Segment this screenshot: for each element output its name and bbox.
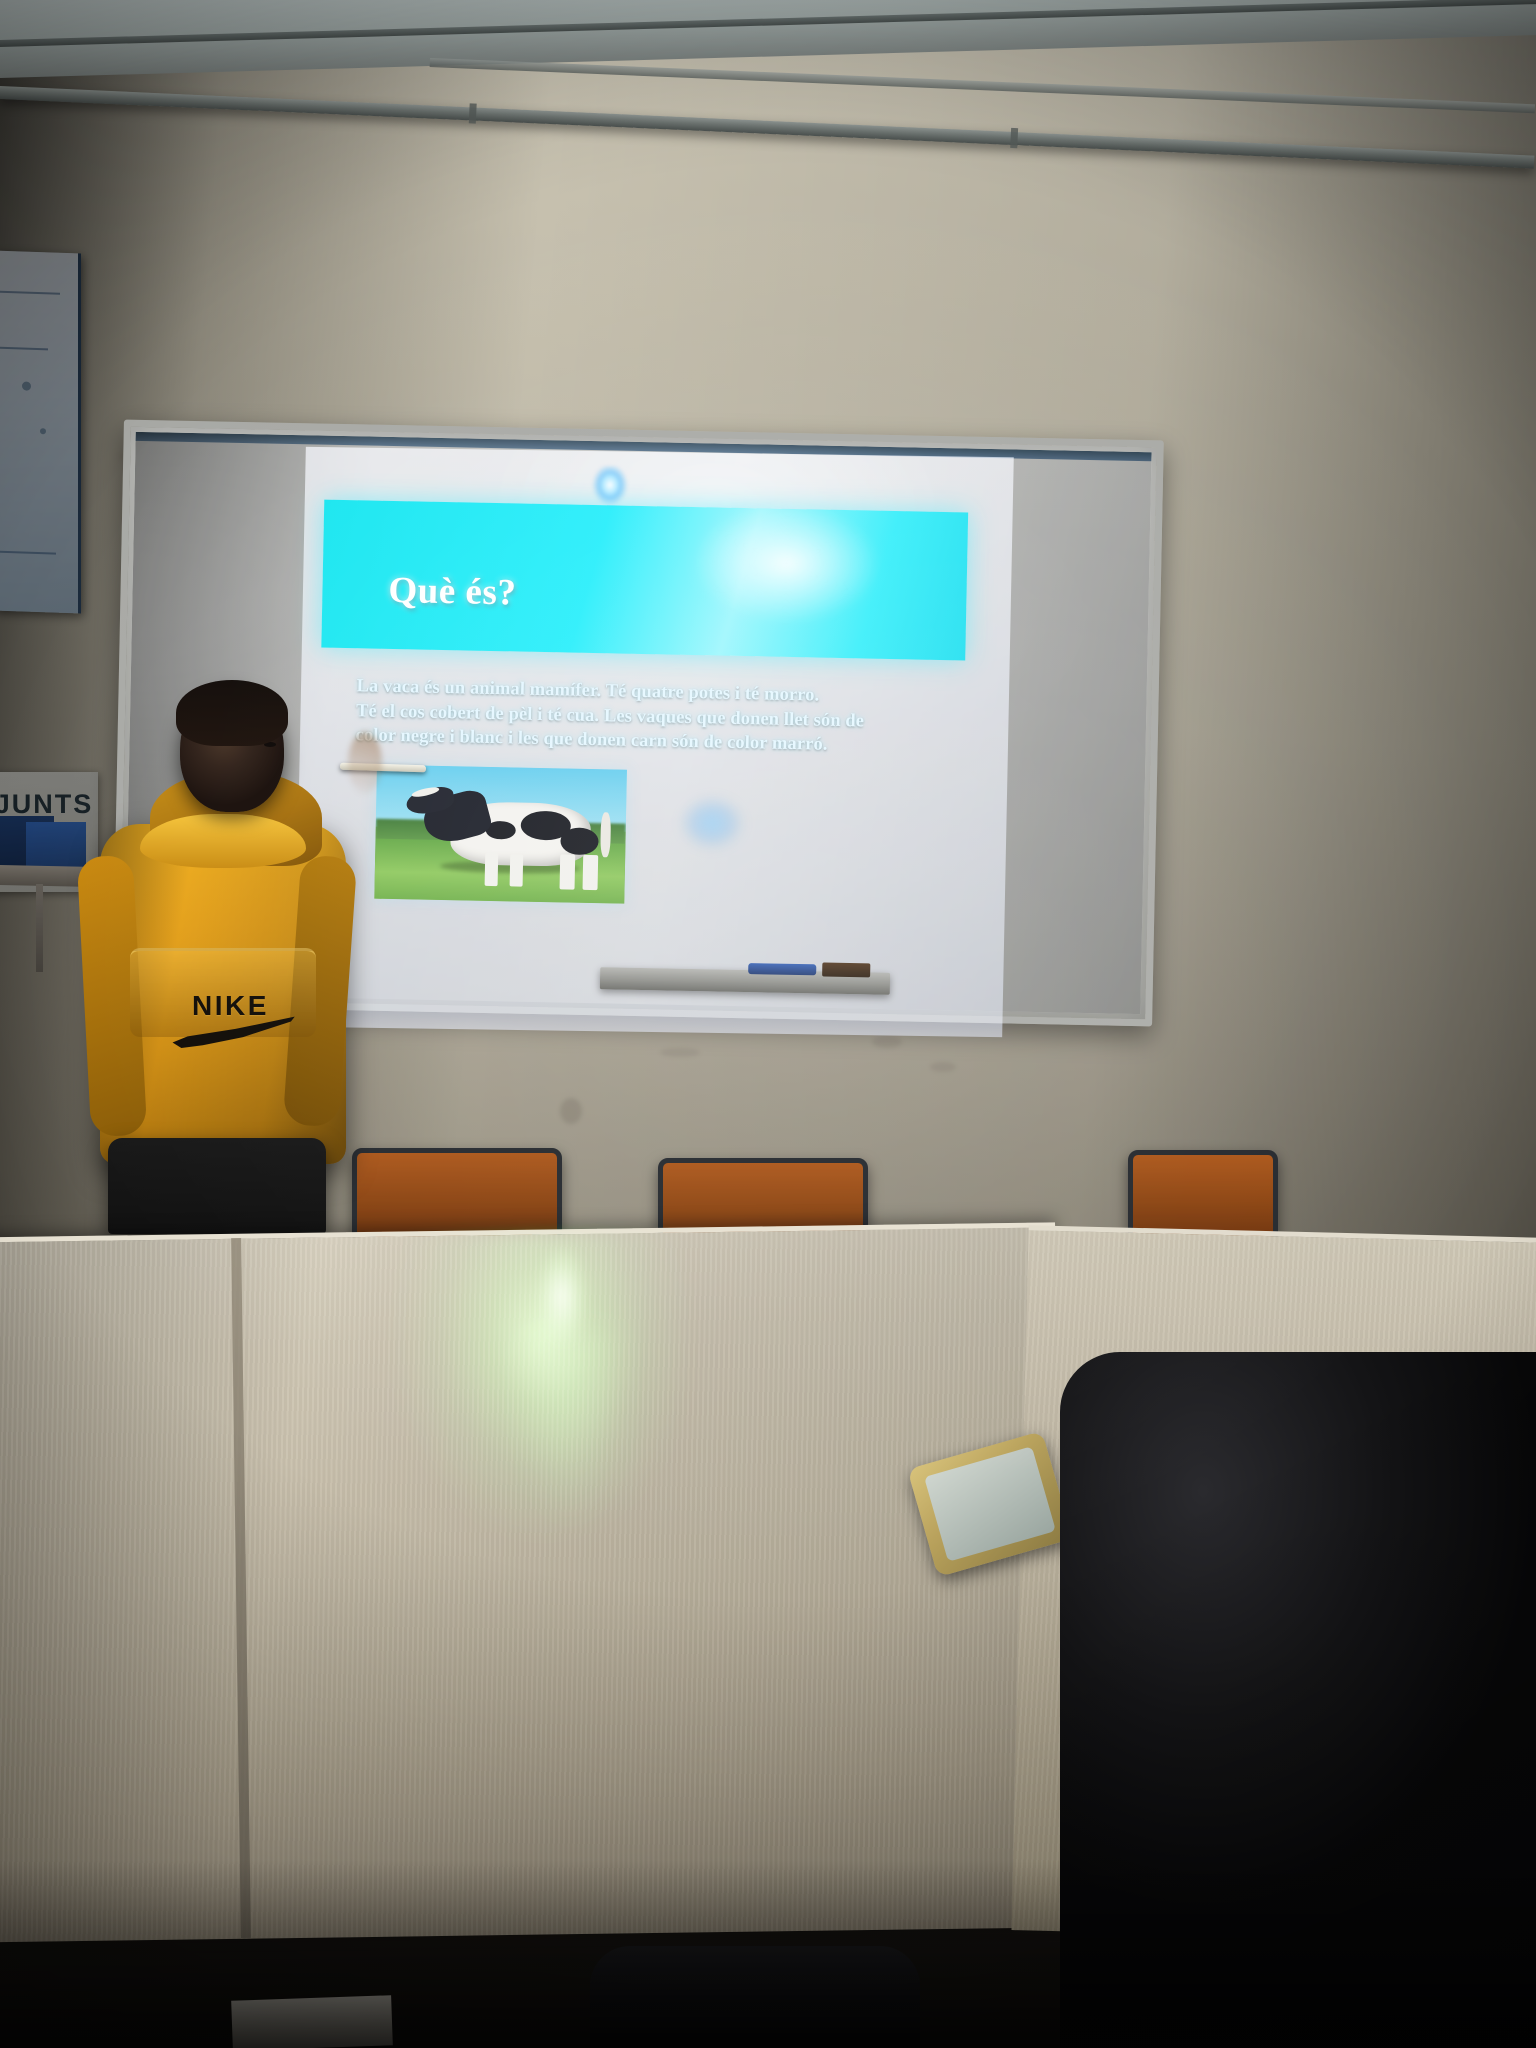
cow-patch (560, 827, 598, 855)
student-presenter: NIKE (78, 686, 346, 1234)
classroom-presentation-photo: JUNTS Què és? La vaca és un animal mamíf… (0, 0, 1536, 2048)
shelf-brace (36, 884, 43, 972)
nike-logo: NIKE (170, 990, 302, 1052)
nike-wordmark: NIKE (192, 990, 269, 1022)
blue-marker (748, 963, 816, 975)
trousers (108, 1138, 326, 1234)
face-highlight (348, 732, 382, 794)
paper-sheet (231, 1995, 393, 2048)
ceiling-conduit-upper (430, 58, 1535, 113)
hood-collar (140, 814, 306, 868)
phone-screen (924, 1446, 1056, 1561)
slide-body-text: La vaca és un animal mamífer. Té quatre … (355, 674, 946, 760)
green-laser-tail (470, 1330, 670, 1690)
presentation-slide: Què és? La vaca és un animal mamífer. Té… (308, 485, 977, 948)
board-eraser (822, 962, 870, 977)
map-poster (0, 250, 81, 613)
projector-lens-flare (592, 466, 628, 508)
slide-title: Què és? (388, 569, 517, 615)
dark-object-bottom (590, 1946, 920, 2048)
dark-object (1060, 1352, 1536, 2048)
blue-light-blob (672, 790, 752, 856)
green-laser-core (530, 1244, 594, 1374)
hair (176, 680, 288, 746)
slide-cow-photo (374, 765, 627, 904)
cow-leg (582, 855, 598, 890)
cow-leg (560, 854, 576, 889)
cow-leg (510, 854, 523, 886)
cow-leg (485, 853, 498, 887)
